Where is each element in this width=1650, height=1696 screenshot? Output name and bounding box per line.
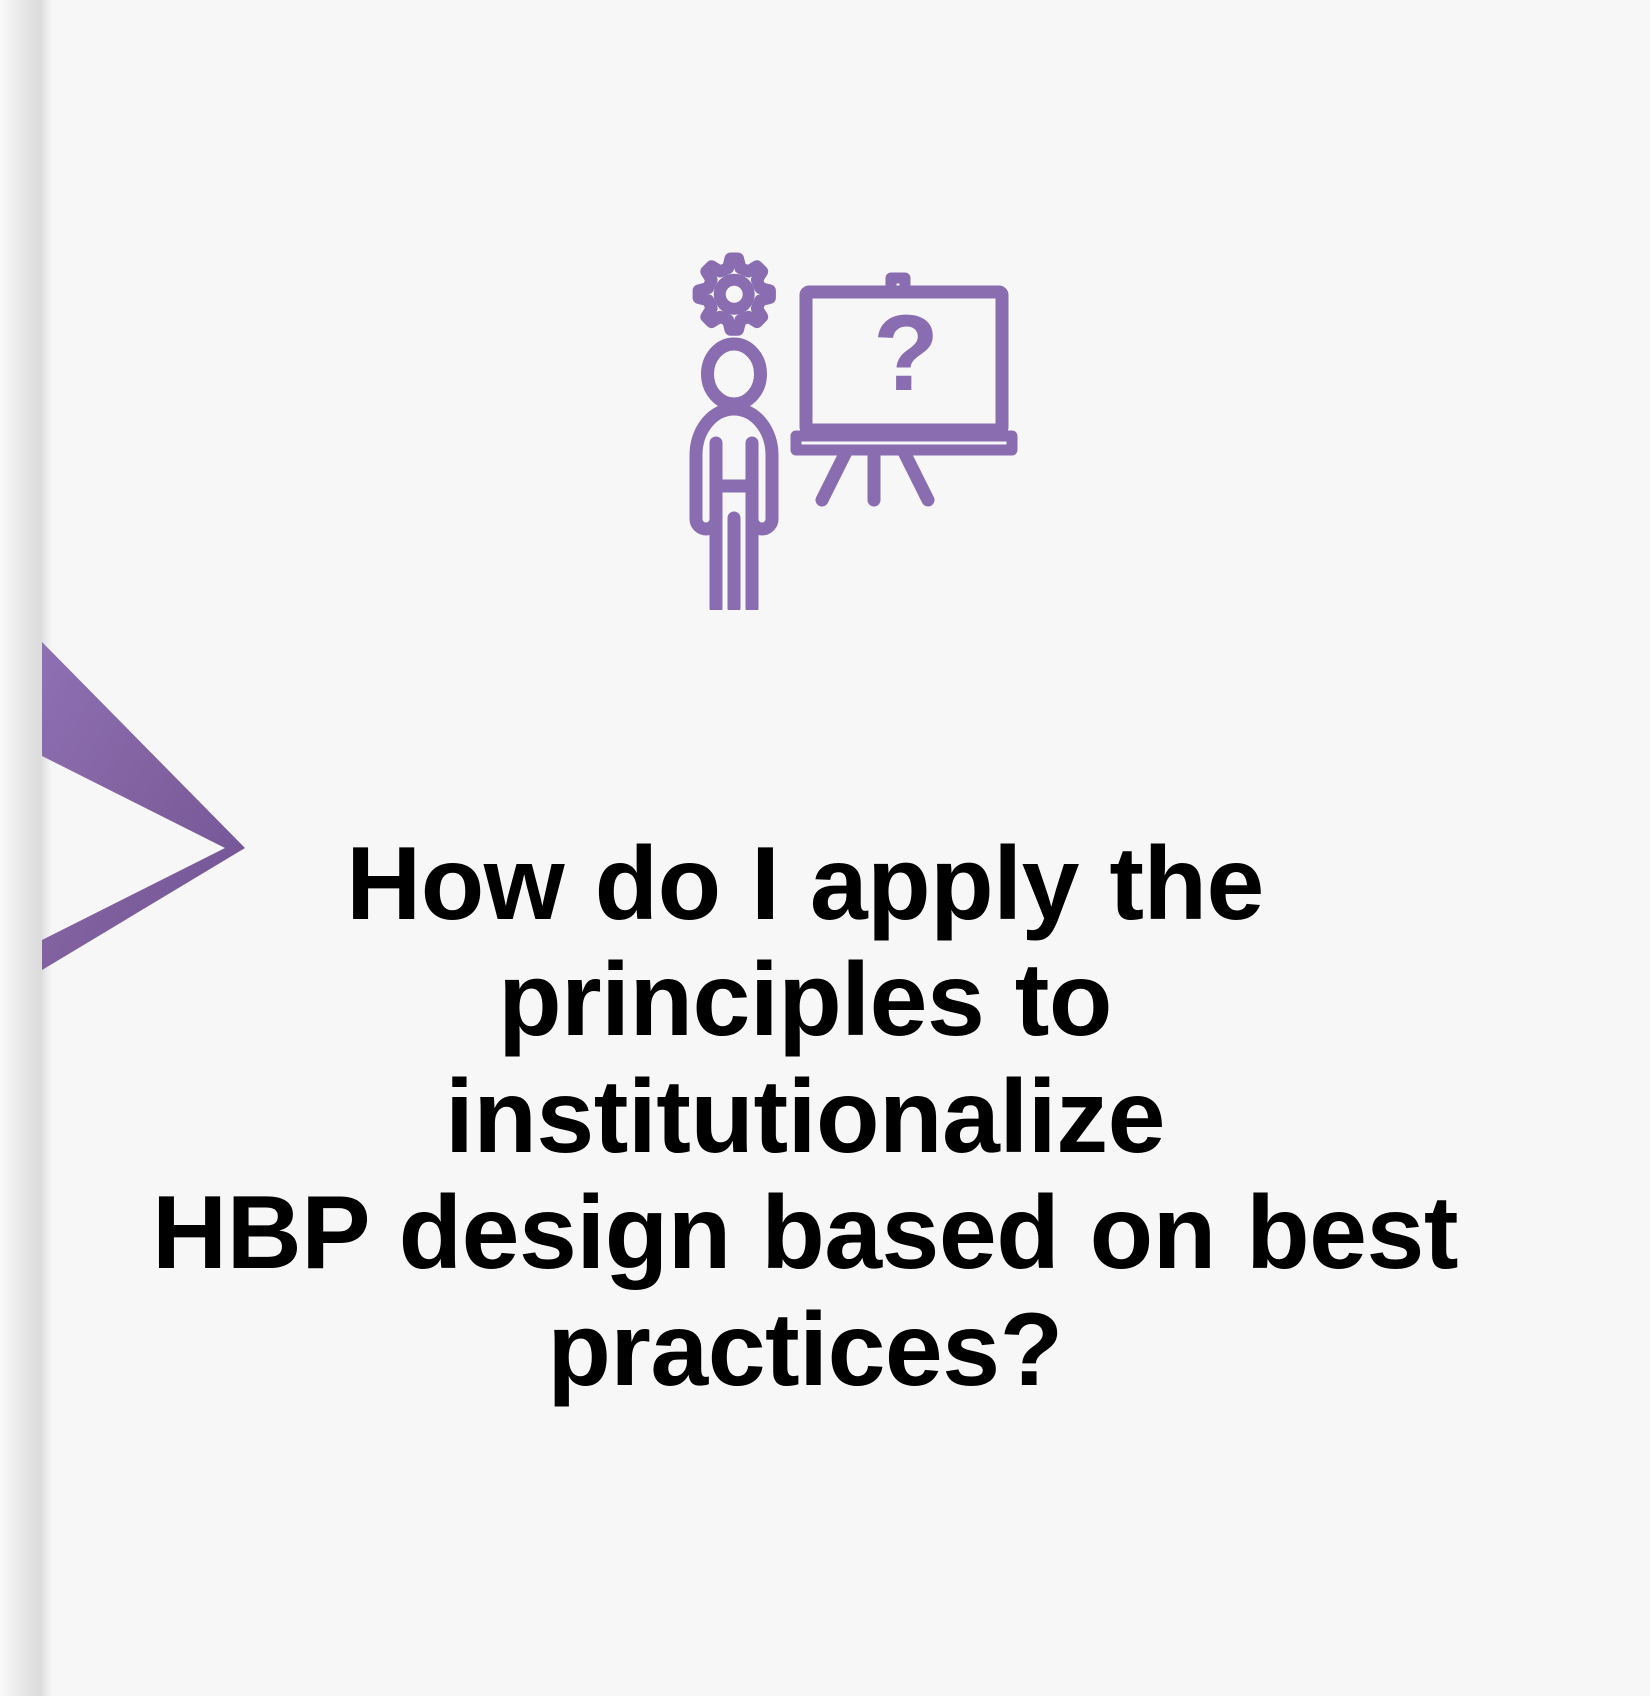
person-with-gear-and-easel-illustration: ?: [660, 240, 1030, 610]
page-title-line-2: principles to institutionalize: [445, 942, 1165, 1174]
page-title: How do I apply the principles to institu…: [130, 826, 1480, 1408]
question-mark-icon: ?: [873, 292, 939, 413]
page-title-block: How do I apply the principles to institu…: [130, 826, 1480, 1408]
slide-canvas: ? How do I apply the principles to insti…: [0, 0, 1650, 1696]
page-title-line-4: practices?: [547, 1292, 1062, 1408]
svg-text:?: ?: [873, 292, 939, 413]
person-icon: [696, 344, 772, 608]
page-title-line-3: HBP design based on best: [152, 1175, 1458, 1291]
page-title-line-1: How do I apply the: [346, 826, 1264, 942]
gear-icon: [699, 259, 770, 330]
